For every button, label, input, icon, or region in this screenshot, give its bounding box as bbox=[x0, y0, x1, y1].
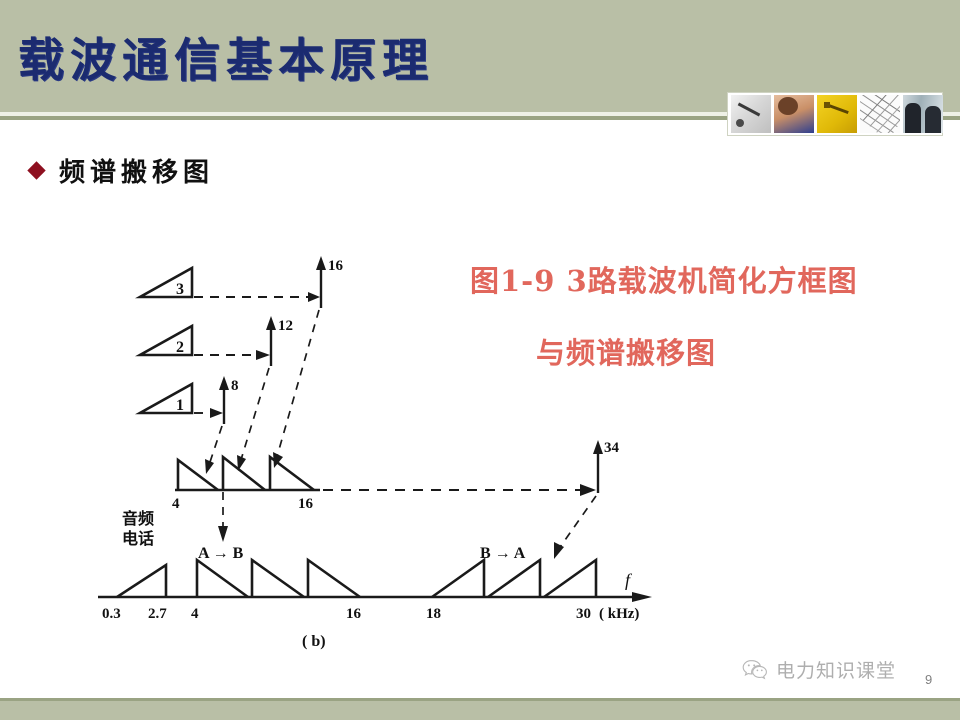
demod-down-path bbox=[218, 492, 228, 542]
carrier-descent-lines bbox=[205, 310, 319, 474]
audio-label-line1: 音频 bbox=[122, 509, 154, 528]
carrier-12-label: 12 bbox=[278, 318, 293, 334]
diamond-bullet-icon bbox=[27, 161, 45, 179]
footer-band bbox=[0, 701, 960, 720]
carrier-16-label: 16 bbox=[328, 258, 344, 274]
watermark-label: 电力知识课堂 bbox=[776, 656, 896, 683]
wechat-icon bbox=[742, 659, 769, 680]
page-number: 9 bbox=[925, 672, 932, 687]
axis-tick-18: 18 bbox=[426, 606, 441, 622]
channel-triangle-3-label: 3 bbox=[176, 281, 184, 298]
network-grid-photo bbox=[860, 95, 900, 133]
carrier-8-label: 8 bbox=[231, 378, 239, 394]
channel-triangle-2: 2 bbox=[140, 326, 192, 356]
direction-a-to-b-label: A → B bbox=[198, 545, 244, 562]
businessmen-photo bbox=[903, 95, 943, 133]
channel-triangle-1: 1 bbox=[140, 384, 192, 414]
carrier-16: 16 bbox=[316, 256, 344, 308]
axis-unit-label: ( kHz) bbox=[599, 606, 639, 622]
axis-tick-4: 4 bbox=[191, 606, 199, 622]
watermark: 电力知识课堂 bbox=[742, 656, 896, 683]
person-back-photo bbox=[774, 95, 814, 133]
yellow-clock-photo bbox=[817, 95, 857, 133]
group-spectrum-b-side: 18 30 ( kHz) bbox=[426, 560, 639, 622]
group-axis-start-label: 4 bbox=[172, 496, 180, 512]
bullet-row: 频谱搬移图 bbox=[30, 152, 214, 189]
figure-part-label: ( b) bbox=[302, 633, 326, 650]
axis-tick-2-7: 2.7 bbox=[148, 606, 167, 622]
group-axis-end-label: 16 bbox=[298, 496, 314, 512]
output-descent-line bbox=[554, 496, 596, 559]
audio-label-line2: 电话 bbox=[122, 529, 154, 548]
axis-tick-16: 16 bbox=[346, 606, 362, 622]
grey-clock-photo bbox=[731, 95, 771, 133]
axis-tick-0-3: 0.3 bbox=[102, 606, 121, 622]
photo-strip bbox=[727, 92, 943, 136]
channel-triangle-3: 3 bbox=[140, 268, 192, 298]
slide-canvas: 载波通信基本原理 频谱搬移图 图1-9 3路载波机简化方框图 与频谱搬移图 3 bbox=[0, 0, 960, 720]
axis-tick-30: 30 bbox=[576, 606, 591, 622]
group-spectrum-4-16: 4 16 bbox=[172, 457, 320, 512]
direction-b-to-a-label: B → A bbox=[480, 545, 526, 562]
spectrum-shift-diagram: 3 2 1 16 bbox=[80, 250, 700, 650]
channel-triangle-2-label: 2 bbox=[176, 339, 184, 356]
carrier-34-label: 34 bbox=[604, 440, 620, 456]
modulation-path-3 bbox=[194, 292, 320, 302]
group-spectrum-a-side: 4 16 bbox=[191, 560, 362, 622]
group-to-output-path bbox=[323, 484, 596, 496]
carrier-8: 8 bbox=[219, 376, 239, 424]
audio-telephone-label: 音频 电话 bbox=[122, 509, 154, 548]
page-title: 载波通信基本原理 bbox=[18, 24, 434, 90]
carrier-34: 34 bbox=[593, 440, 620, 493]
modulation-path-2 bbox=[194, 350, 270, 360]
bullet-label: 频谱搬移图 bbox=[59, 152, 214, 189]
frequency-axis-symbol: f bbox=[625, 570, 633, 590]
carrier-12: 12 bbox=[266, 316, 293, 366]
channel-triangle-1-label: 1 bbox=[176, 397, 184, 414]
baseband-spectrum: 0.3 2.7 bbox=[102, 565, 167, 622]
modulation-path-1 bbox=[194, 408, 223, 418]
frequency-axis: f bbox=[98, 570, 652, 602]
